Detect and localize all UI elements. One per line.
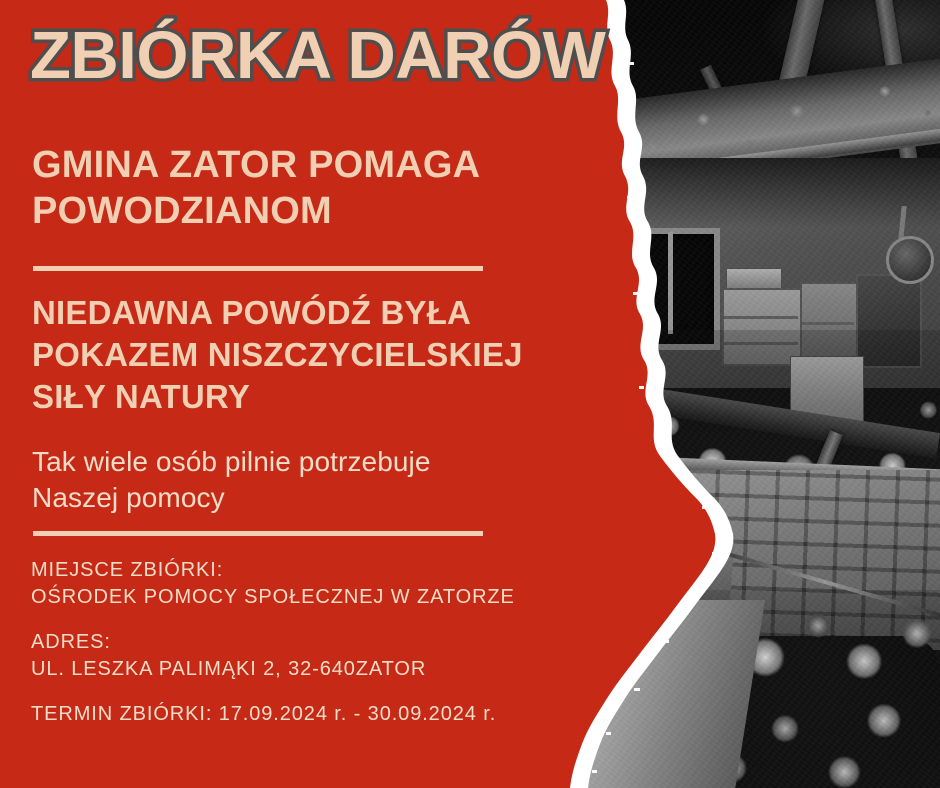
detail-address-value: UL. LESZKA PALIMĄKI 2, 32-640ZATOR: [31, 656, 591, 683]
detail-dates-label: TERMIN ZBIÓRKI: 17.09.2024 r. - 30.09.20…: [31, 701, 591, 728]
photo-shelf: [724, 316, 798, 319]
detail-address: ADRES: UL. LESZKA PALIMĄKI 2, 32-640ZATO…: [31, 629, 591, 682]
details-block: MIEJSCE ZBIÓRKI: OŚRODEK POMOCY SPOŁECZN…: [31, 557, 591, 728]
detail-location: MIEJSCE ZBIÓRKI: OŚRODEK POMOCY SPOŁECZN…: [31, 557, 591, 610]
photo-window-mullion: [668, 232, 673, 334]
appeal-line-2: Naszej pomocy: [32, 482, 225, 513]
detail-address-label: ADRES:: [31, 629, 591, 656]
photo-hanging-pan: [886, 236, 934, 284]
appeal-text: Tak wiele osób pilnie potrzebuje Naszej …: [32, 444, 562, 517]
poster-text-content: ZBIÓRKA DARÓW GMINA ZATOR POMAGA POWODZI…: [0, 0, 600, 788]
divider-rule-bottom: [33, 531, 483, 536]
detail-location-label: MIEJSCE ZBIÓRKI:: [31, 557, 591, 584]
subheading-line-1: GMINA ZATOR POMAGA: [32, 144, 480, 186]
detail-location-value: OŚRODEK POMOCY SPOŁECZNEJ W ZATORZE: [31, 584, 591, 611]
subheading-line-2: POWODZIANOM: [32, 190, 332, 232]
statement-line-2: POKAZEM NISZCZYCIELSKIEJ: [32, 336, 523, 373]
statement-line-1: NIEDAWNA POWÓDŹ BYŁA: [32, 294, 471, 331]
photo-wall-shadow: [610, 158, 940, 228]
photo-concrete-slab: [585, 600, 765, 788]
divider-rule-top: [33, 266, 483, 271]
detail-dates: TERMIN ZBIÓRKI: 17.09.2024 r. - 30.09.20…: [31, 701, 591, 728]
statement-text: NIEDAWNA POWÓDŹ BYŁA POKAZEM NISZCZYCIEL…: [32, 292, 562, 419]
photo-appliance: [726, 268, 782, 290]
appeal-line-1: Tak wiele osób pilnie potrzebuje: [32, 446, 431, 477]
photo-shelf: [802, 322, 854, 325]
statement-line-3: SIŁY NATURY: [32, 378, 250, 415]
page-title: ZBIÓRKA DARÓW: [30, 22, 605, 89]
subheading: GMINA ZATOR POMAGA POWODZIANOM: [32, 142, 532, 235]
poster-canvas: ZBIÓRKA DARÓW GMINA ZATOR POMAGA POWODZI…: [0, 0, 940, 788]
